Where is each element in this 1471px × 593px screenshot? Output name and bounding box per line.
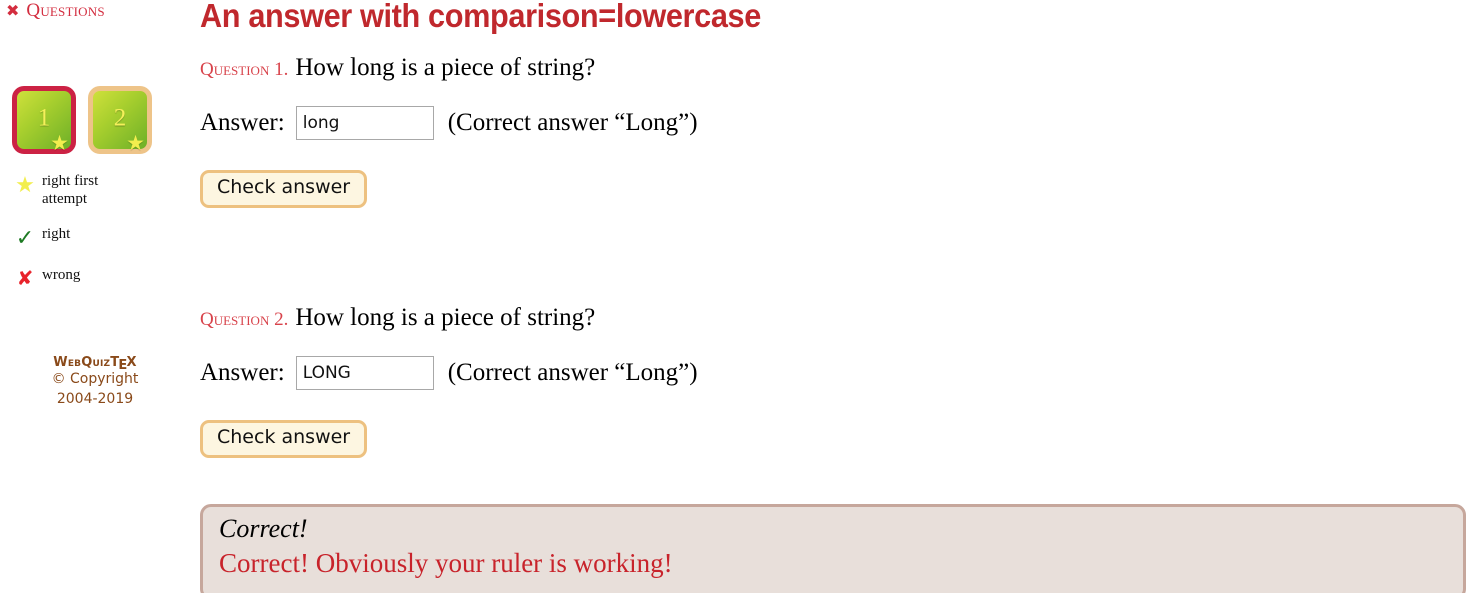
check-icon: ✓ [8, 225, 42, 250]
legend-item-label: right first attempt [42, 172, 134, 209]
star-icon: ★ [126, 133, 145, 154]
question-block-2: Question 2. How long is a piece of strin… [200, 305, 698, 458]
sidebar: ✖ Questions 1 ★ 2 ★ ★ right first attemp… [0, 0, 190, 593]
logo-part-x: X [126, 355, 136, 370]
legend-item-label: wrong [42, 266, 80, 284]
question-nav-button-2[interactable]: 2 ★ [88, 86, 152, 154]
question-text: How long is a piece of string? [295, 55, 595, 80]
correct-answer-hint: (Correct answer “Long”) [448, 109, 698, 137]
question-navigation: 1 ★ 2 ★ [12, 86, 152, 154]
answer-input[interactable] [296, 356, 434, 390]
check-answer-button[interactable]: Check answer [200, 420, 367, 458]
star-icon: ★ [50, 133, 69, 154]
answer-row: Answer: (Correct answer “Long”) [200, 356, 698, 390]
cross-icon: ✘ [8, 266, 42, 289]
answer-row: Answer: (Correct answer “Long”) [200, 106, 698, 140]
footer-logo-block: WebQuizTEX © Copyright 2004-2019 [0, 356, 190, 409]
legend-item-label: right [42, 225, 70, 243]
question-label: Question 1. [200, 60, 288, 79]
copyright-line-2: 2004-2019 [0, 390, 190, 409]
question-text: How long is a piece of string? [295, 305, 595, 330]
question-nav-number: 2 [93, 106, 147, 131]
logo-part-web: Web [53, 355, 81, 370]
legend: ★ right first attempt ✓ right ✘ wrong [8, 172, 183, 305]
question-number: 1. [274, 59, 288, 80]
main-content: An answer with comparison=lowercase Ques… [190, 0, 1471, 593]
question-label-word: Question [200, 59, 269, 80]
question-label: Question 2. [200, 310, 288, 329]
answer-label: Answer: [200, 359, 285, 387]
question-number: 2. [274, 309, 288, 330]
answer-input[interactable] [296, 106, 434, 140]
logo-part-quiz: Quiz [81, 355, 110, 370]
answer-label: Answer: [200, 109, 285, 137]
correct-answer-hint: (Correct answer “Long”) [448, 359, 698, 387]
legend-item-right: ✓ right [8, 225, 183, 250]
close-x-icon[interactable]: ✖ [6, 3, 19, 19]
sidebar-header: ✖ Questions [6, 1, 105, 20]
star-icon: ★ [8, 172, 42, 197]
question-heading: Question 2. How long is a piece of strin… [200, 305, 698, 330]
legend-item-wrong: ✘ wrong [8, 266, 183, 289]
sidebar-title: Questions [26, 1, 104, 20]
legend-item-right-first-attempt: ★ right first attempt [8, 172, 183, 209]
feedback-panel: Correct! Correct! Obviously your ruler i… [200, 504, 1466, 593]
copyright-line-1: © Copyright [0, 370, 190, 389]
logo-part-e: E [118, 359, 127, 373]
page-title: An answer with comparison=lowercase [200, 0, 761, 35]
question-block-1: Question 1. How long is a piece of strin… [200, 55, 698, 208]
feedback-title: Correct! [219, 514, 1447, 545]
question-label-word: Question [200, 309, 269, 330]
check-answer-button[interactable]: Check answer [200, 170, 367, 208]
question-nav-button-1[interactable]: 1 ★ [12, 86, 76, 154]
question-heading: Question 1. How long is a piece of strin… [200, 55, 698, 80]
feedback-message: Correct! Obviously your ruler is working… [219, 547, 1447, 580]
question-nav-number: 1 [17, 106, 71, 131]
webquiztex-logo: WebQuizTEX [0, 356, 190, 370]
